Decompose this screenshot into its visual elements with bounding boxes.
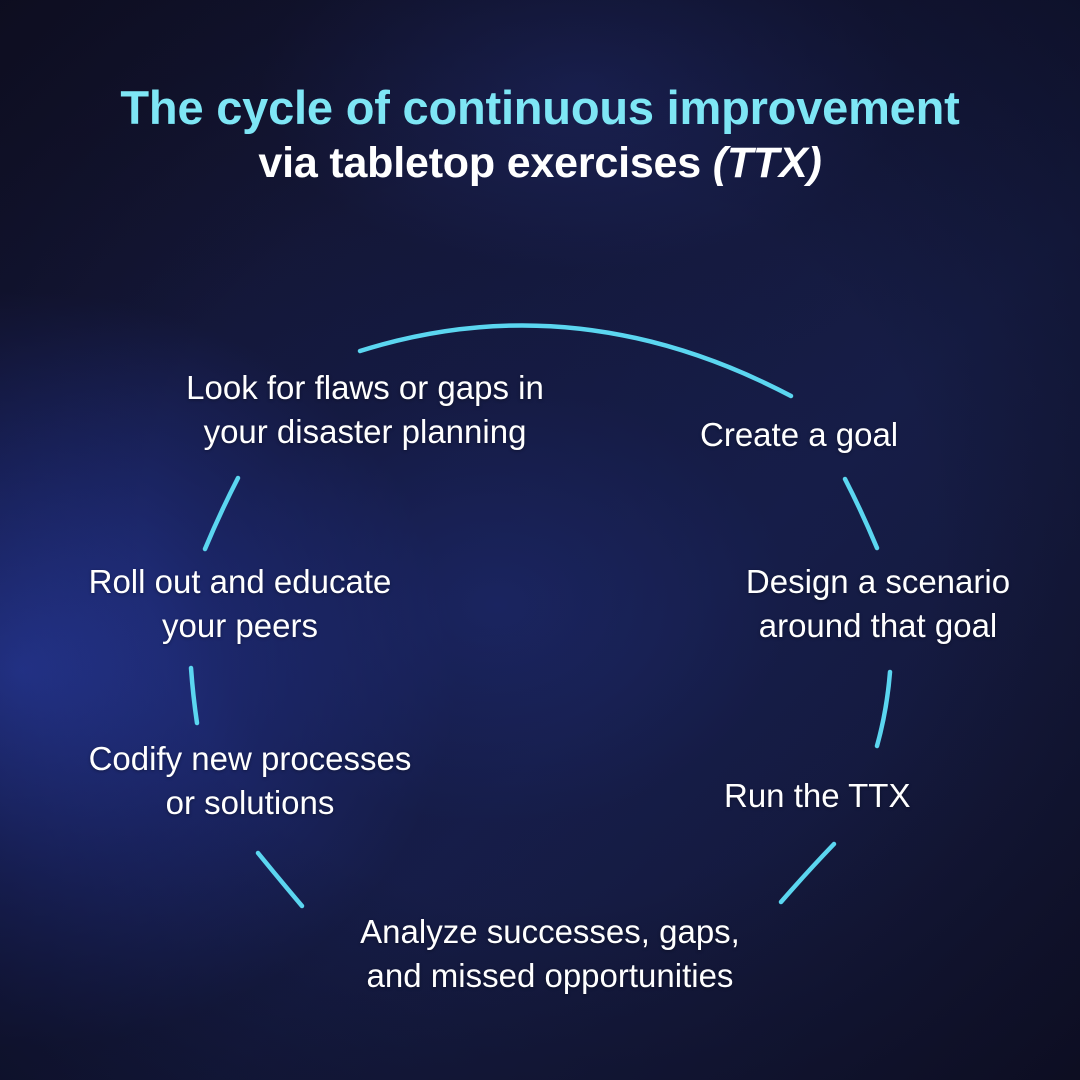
cycle-step-analyze-successes[interactable]: Analyze successes, gaps, and missed oppo… [300, 910, 800, 997]
cycle-step-roll-out-and-educate[interactable]: Roll out and educate your peers [40, 560, 440, 647]
cycle-step-design-a-scenario[interactable]: Design a scenario around that goal [718, 560, 1038, 647]
infographic-canvas: The cycle of continuous improvement via … [0, 0, 1080, 1080]
title-line-secondary: via tabletop exercises (TTX) [0, 139, 1080, 187]
cycle-step-look-for-flaws[interactable]: Look for flaws or gaps in your disaster … [140, 366, 590, 453]
cycle-step-codify-new-processes[interactable]: Codify new processes or solutions [50, 737, 450, 824]
page-title: The cycle of continuous improvement via … [0, 82, 1080, 187]
cycle-step-create-a-goal[interactable]: Create a goal [700, 413, 898, 457]
cycle-step-run-the-ttx[interactable]: Run the TTX [724, 774, 910, 818]
title-line-secondary-emphasis: (TTX) [713, 139, 822, 187]
title-line-secondary-plain: via tabletop exercises [258, 139, 712, 187]
title-line-primary: The cycle of continuous improvement [0, 82, 1080, 135]
